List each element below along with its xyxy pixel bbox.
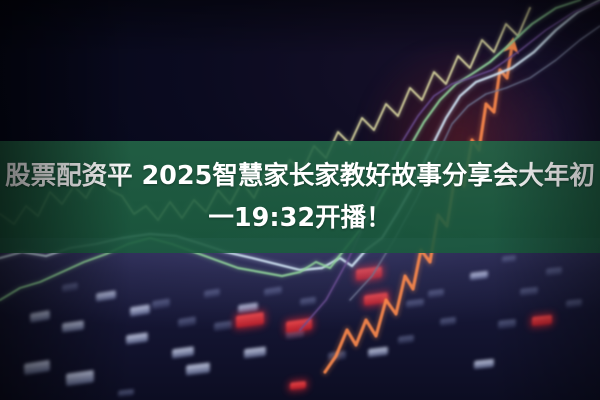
- promo-banner-image: 股票配资平 2025智慧家长家教好故事分享会大年初 一19:32开播！: [0, 0, 600, 400]
- green-caption-band-inner: [0, 141, 600, 253]
- green-caption-band: [0, 141, 600, 253]
